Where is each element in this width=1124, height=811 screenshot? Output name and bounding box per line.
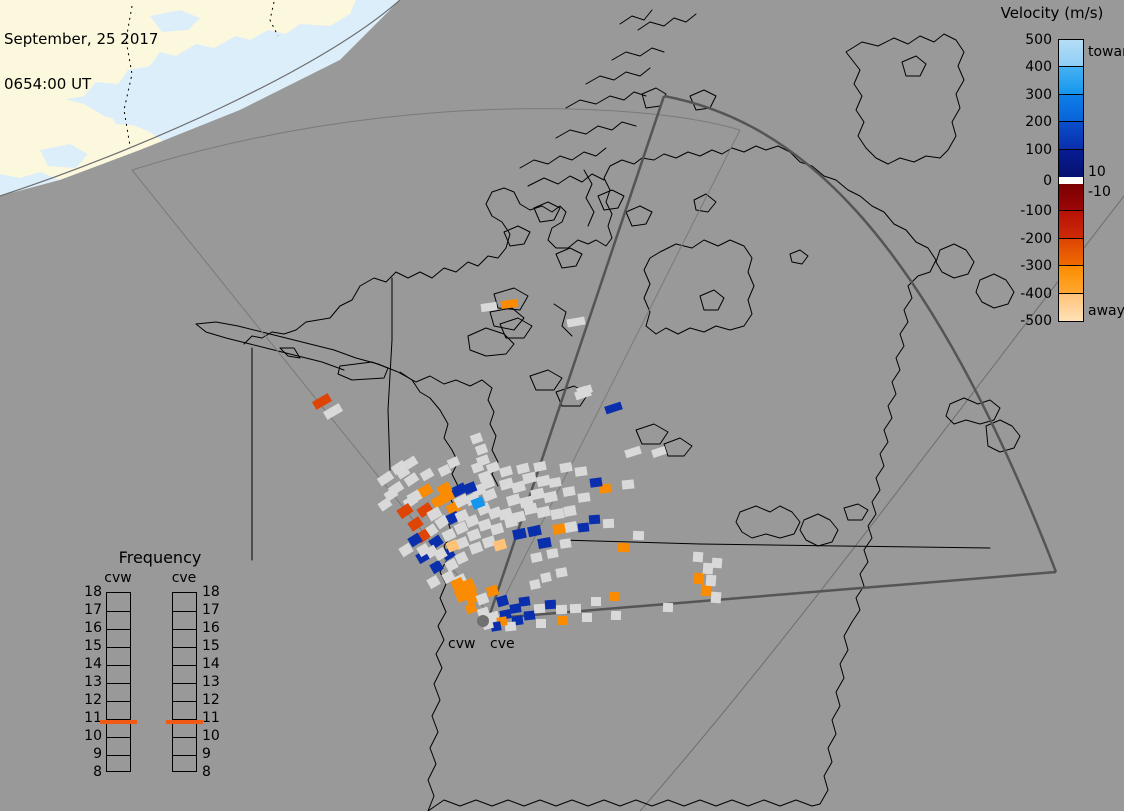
frequency-legend: Frequency cvw cve 18171615141312111098 1… bbox=[80, 548, 240, 780]
frequency-segment bbox=[107, 755, 130, 773]
velocity-cell bbox=[609, 592, 619, 601]
frequency-tick-cvw-18: 18 bbox=[80, 584, 102, 600]
frequency-tick-cve-18: 18 bbox=[202, 584, 220, 600]
frequency-tick-cvw-13: 13 bbox=[80, 674, 102, 690]
velocity-tick-400: 400 bbox=[1025, 59, 1052, 75]
frequency-segment bbox=[173, 737, 196, 755]
velocity-cell bbox=[559, 538, 571, 548]
frequency-segment bbox=[173, 611, 196, 629]
velocity-cell bbox=[611, 611, 621, 620]
frequency-tick-cve-12: 12 bbox=[202, 692, 220, 708]
velocity-cell bbox=[558, 616, 568, 625]
velocity-cell bbox=[536, 619, 546, 628]
site-label-cve: cve bbox=[490, 636, 515, 652]
frequency-bar-cvw[interactable] bbox=[106, 592, 131, 772]
velocity-cell bbox=[663, 603, 673, 612]
frequency-tick-cvw-14: 14 bbox=[80, 656, 102, 672]
frequency-segment bbox=[173, 755, 196, 773]
frequency-segment bbox=[107, 665, 130, 683]
velocity-cell bbox=[524, 610, 536, 620]
velocity-cell bbox=[711, 592, 722, 604]
frequency-tick-cvw-9: 9 bbox=[80, 746, 102, 762]
frequency-segment bbox=[173, 701, 196, 719]
velocity-cell bbox=[693, 552, 704, 563]
velocity-label-negative-threshold: -10 bbox=[1088, 184, 1111, 200]
frequency-segment bbox=[107, 701, 130, 719]
radar-site-dot[interactable] bbox=[477, 615, 489, 627]
velocity-cell bbox=[545, 600, 557, 610]
frequency-bar-cve[interactable] bbox=[172, 592, 197, 772]
velocity-band-2 bbox=[1059, 95, 1083, 122]
velocity-label-toward: toward bbox=[1088, 44, 1124, 60]
frequency-segment bbox=[173, 647, 196, 665]
velocity-cell bbox=[591, 597, 601, 606]
velocity-cell bbox=[534, 604, 546, 614]
site-label-cvw: cvw bbox=[448, 636, 475, 652]
radar-map-canvas: September, 25 2017 0654:00 UT cvw cve Ve… bbox=[0, 0, 1124, 811]
velocity-band-0 bbox=[1059, 40, 1083, 67]
frequency-column-label-cvw: cvw bbox=[98, 570, 138, 586]
velocity-cell bbox=[603, 519, 614, 528]
velocity-tick--300: -300 bbox=[1020, 258, 1052, 274]
velocity-cell bbox=[564, 521, 578, 533]
frequency-tick-cve-17: 17 bbox=[202, 602, 220, 618]
frequency-segment bbox=[107, 647, 130, 665]
frequency-tick-cve-11: 11 bbox=[202, 710, 220, 726]
velocity-cell bbox=[618, 543, 629, 552]
velocity-band-8 bbox=[1059, 266, 1083, 293]
frequency-tick-cvw-11: 11 bbox=[80, 710, 102, 726]
velocity-tick-500: 500 bbox=[1025, 32, 1052, 48]
velocity-tick-300: 300 bbox=[1025, 87, 1052, 103]
velocity-label-away: away bbox=[1088, 303, 1124, 319]
velocity-label-positive-threshold: 10 bbox=[1088, 164, 1106, 180]
velocity-band-5 bbox=[1059, 184, 1083, 211]
velocity-zero-gap bbox=[1059, 177, 1083, 184]
velocity-legend: Velocity (m/s) 5004003002001000-100-200-… bbox=[980, 0, 1124, 340]
frequency-segment bbox=[173, 665, 196, 683]
frequency-tick-cve-8: 8 bbox=[202, 764, 211, 780]
velocity-cell bbox=[555, 567, 567, 578]
frequency-tick-cvw-16: 16 bbox=[80, 620, 102, 636]
velocity-tick-200: 200 bbox=[1025, 114, 1052, 130]
frequency-tick-cve-16: 16 bbox=[202, 620, 220, 636]
frequency-column-label-cve: cve bbox=[164, 570, 204, 586]
frequency-segment bbox=[173, 629, 196, 647]
frequency-tick-cve-15: 15 bbox=[202, 638, 220, 654]
timestamp: September, 25 2017 0654:00 UT bbox=[4, 2, 158, 122]
velocity-band-7 bbox=[1059, 239, 1083, 266]
frequency-tick-cvw-12: 12 bbox=[80, 692, 102, 708]
velocity-cell bbox=[701, 585, 712, 597]
timestamp-date: September, 25 2017 bbox=[4, 32, 158, 47]
timestamp-time: 0654:00 UT bbox=[4, 77, 158, 92]
velocity-cell bbox=[703, 563, 714, 575]
velocity-band-6 bbox=[1059, 211, 1083, 238]
velocity-cell bbox=[578, 522, 590, 532]
frequency-segment bbox=[107, 683, 130, 701]
velocity-cell bbox=[582, 613, 592, 622]
velocity-cell bbox=[556, 605, 567, 614]
frequency-tick-cvw-17: 17 bbox=[80, 602, 102, 618]
velocity-cell bbox=[622, 479, 635, 489]
frequency-tick-cve-10: 10 bbox=[202, 728, 220, 744]
velocity-band-3 bbox=[1059, 122, 1083, 149]
frequency-tick-cvw-10: 10 bbox=[80, 728, 102, 744]
frequency-tick-cvw-8: 8 bbox=[80, 764, 102, 780]
velocity-cell bbox=[706, 575, 717, 587]
velocity-cell bbox=[589, 477, 602, 488]
velocity-cell bbox=[563, 505, 577, 517]
velocity-cell bbox=[694, 573, 705, 585]
frequency-legend-title: Frequency bbox=[80, 548, 240, 567]
velocity-tick--200: -200 bbox=[1020, 231, 1052, 247]
frequency-marker-cvw bbox=[100, 720, 137, 724]
velocity-cell bbox=[518, 596, 530, 606]
velocity-band-9 bbox=[1059, 294, 1083, 321]
frequency-tick-cve-14: 14 bbox=[202, 656, 220, 672]
frequency-segment bbox=[107, 629, 130, 647]
velocity-cell bbox=[574, 466, 587, 477]
velocity-band-4 bbox=[1059, 150, 1083, 177]
velocity-cell bbox=[633, 531, 644, 540]
frequency-tick-cve-9: 9 bbox=[202, 746, 211, 762]
velocity-cell bbox=[712, 558, 723, 569]
frequency-segment bbox=[107, 737, 130, 755]
frequency-tick-cve-13: 13 bbox=[202, 674, 220, 690]
frequency-tick-cvw-15: 15 bbox=[80, 638, 102, 654]
frequency-segment bbox=[107, 611, 130, 629]
velocity-tick-100: 100 bbox=[1025, 142, 1052, 158]
velocity-cell bbox=[570, 604, 581, 613]
velocity-cell bbox=[546, 548, 558, 559]
velocity-tick--100: -100 bbox=[1020, 203, 1052, 219]
velocity-tick-0: 0 bbox=[1043, 173, 1052, 189]
velocity-tick--400: -400 bbox=[1020, 286, 1052, 302]
velocity-cell bbox=[589, 515, 601, 525]
velocity-legend-title: Velocity (m/s) bbox=[980, 4, 1124, 22]
velocity-colorbar[interactable] bbox=[1058, 39, 1084, 322]
frequency-marker-cve bbox=[166, 720, 203, 724]
velocity-tick--500: -500 bbox=[1020, 313, 1052, 329]
frequency-segment bbox=[173, 683, 196, 701]
velocity-cell bbox=[577, 492, 590, 503]
velocity-band-1 bbox=[1059, 67, 1083, 94]
